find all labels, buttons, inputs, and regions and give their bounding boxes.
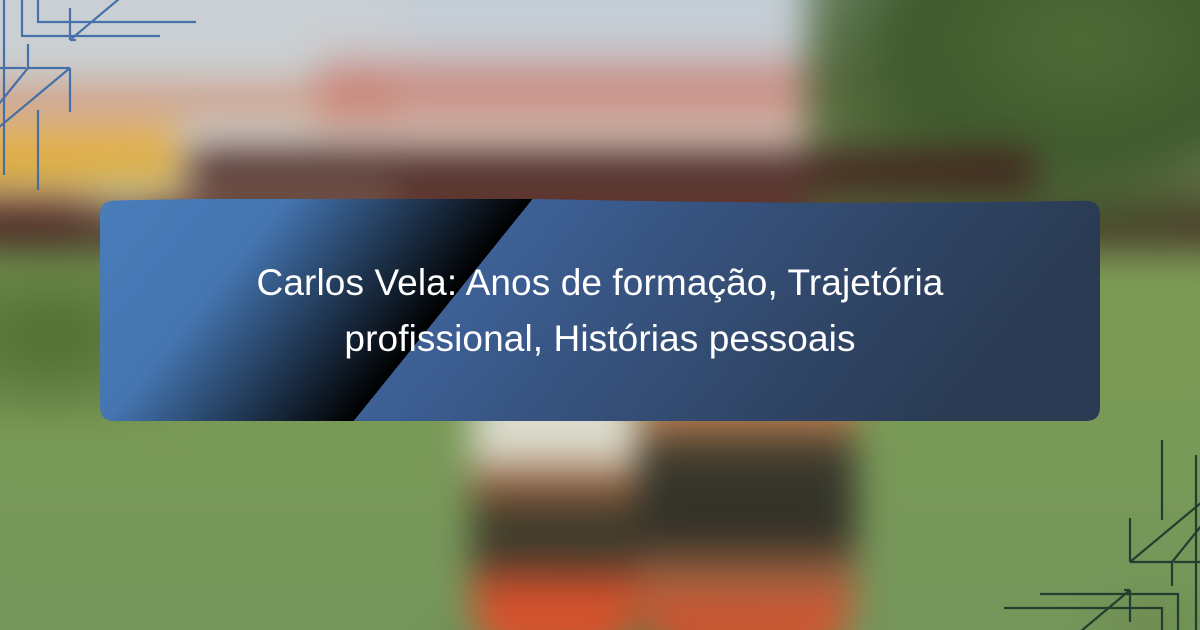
banner-canvas: Carlos Vela: Anos de formação, Trajetóri… (0, 0, 1200, 630)
background-blur-blob-bottom-right (1074, 585, 1200, 630)
title-line-2: profissional, Histórias pessoais (344, 311, 855, 367)
title-line-1: Carlos Vela: Anos de formação, Trajetóri… (257, 255, 944, 311)
title-banner-text: Carlos Vela: Anos de formação, Trajetóri… (100, 199, 1100, 423)
title-banner: Carlos Vela: Anos de formação, Trajetóri… (100, 199, 1100, 423)
background-dark-barrier (190, 141, 1035, 198)
